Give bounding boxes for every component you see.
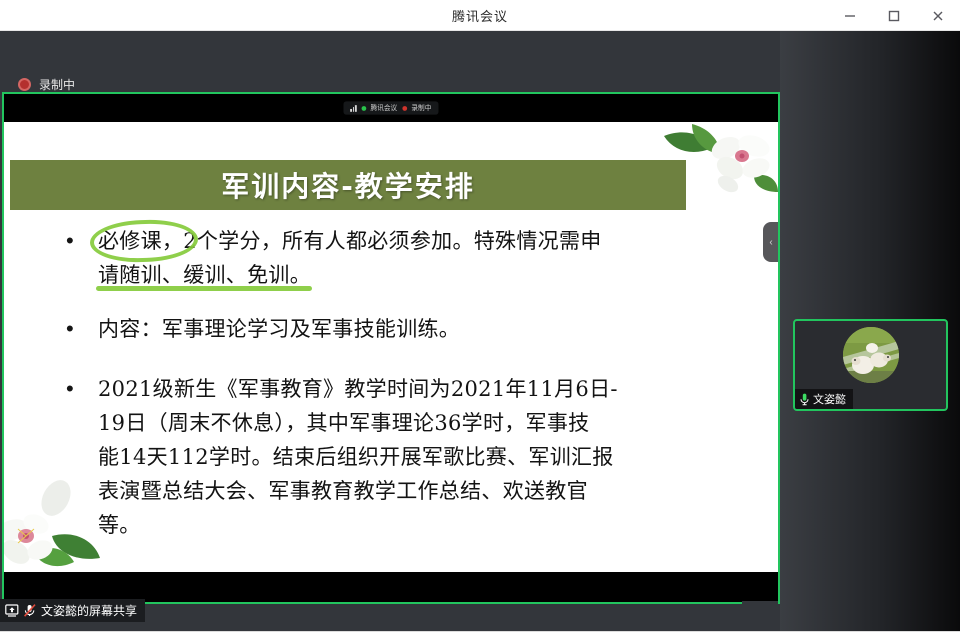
minimize-icon <box>843 9 857 23</box>
recording-label: 录制中 <box>39 76 75 93</box>
record-dot-icon <box>18 78 31 91</box>
bullet-text: 必修课，2个学分，所有人都必须参加。特殊情况需申 请随训、缓训、免训。 <box>98 224 602 292</box>
presentation-slide: 军训内容-教学安排 • 必修课，2个学分，所有人都必须参加。特殊情况需申 请随训… <box>4 122 778 572</box>
participant-tile[interactable]: 文姿懿 <box>793 319 948 411</box>
bullet-marker: • <box>66 224 98 292</box>
slide-title: 军训内容-教学安排 <box>221 165 475 205</box>
microphone-on-icon <box>800 393 809 406</box>
remote-status-bar: 腾讯会议 录制中 <box>4 94 778 122</box>
remote-recording-label: 录制中 <box>412 103 432 113</box>
remote-app-name: 腾讯会议 <box>371 103 398 113</box>
connected-dot-icon <box>361 106 366 111</box>
maximize-icon <box>887 9 901 23</box>
slide-body: • 必修课，2个学分，所有人都必须参加。特殊情况需申 请随训、缓训、免训。 • … <box>66 224 726 562</box>
slide-bullet: • 内容：军事理论学习及军事技能训练。 <box>66 312 726 346</box>
participant-name: 文姿懿 <box>813 391 846 407</box>
tencent-meeting-window: 腾讯会议 <box>0 0 960 640</box>
slide-bullet: • 必修课，2个学分，所有人都必须参加。特殊情况需申 请随训、缓训、免训。 <box>66 224 726 292</box>
maximize-button[interactable] <box>872 0 916 31</box>
recording-indicator[interactable]: 录制中 <box>18 76 75 93</box>
minimize-button[interactable] <box>828 0 872 31</box>
slide-title-band: 军训内容-教学安排 <box>10 160 686 210</box>
signal-bars-icon <box>350 105 356 112</box>
sharer-label-text: 文姿懿的屏幕共享 <box>41 602 137 619</box>
avatar-image-sheep <box>843 327 899 383</box>
remote-record-dot-icon <box>402 106 407 111</box>
border-gap-bottom-right <box>742 601 778 605</box>
bullet-marker: • <box>66 312 98 346</box>
microphone-muted-icon <box>23 604 37 617</box>
remote-status-pill: 腾讯会议 录制中 <box>344 101 439 114</box>
recording-bar: 录制中 <box>0 31 780 92</box>
slide-letterbox <box>4 572 778 602</box>
participant-nameplate: 文姿懿 <box>795 389 853 409</box>
sharer-label: 文姿懿的屏幕共享 <box>0 599 145 622</box>
collapse-panel-arrow-icon[interactable]: ‹ <box>763 222 778 262</box>
close-button[interactable] <box>916 0 960 31</box>
bullet-text: 内容：军事理论学习及军事技能训练。 <box>98 312 460 346</box>
shared-screen-content: 腾讯会议 录制中 <box>4 94 778 602</box>
close-icon <box>931 9 945 23</box>
avatar <box>843 327 899 383</box>
window-controls <box>828 0 960 31</box>
shared-screen-region[interactable]: 腾讯会议 录制中 <box>2 92 780 604</box>
bottom-strip <box>0 631 960 640</box>
meeting-body: 录制中 腾讯会议 录制中 <box>0 31 960 640</box>
screen-share-icon <box>5 604 19 617</box>
bullet-text: 2021级新生《军事教育》教学时间为2021年11月6日- 19日（周末不休息）… <box>98 372 618 542</box>
window-titlebar: 腾讯会议 <box>0 0 960 31</box>
window-title: 腾讯会议 <box>452 6 508 25</box>
slide-bullet: • 2021级新生《军事教育》教学时间为2021年11月6日- 19日（周末不休… <box>66 372 726 542</box>
bullet-marker: • <box>66 372 98 542</box>
